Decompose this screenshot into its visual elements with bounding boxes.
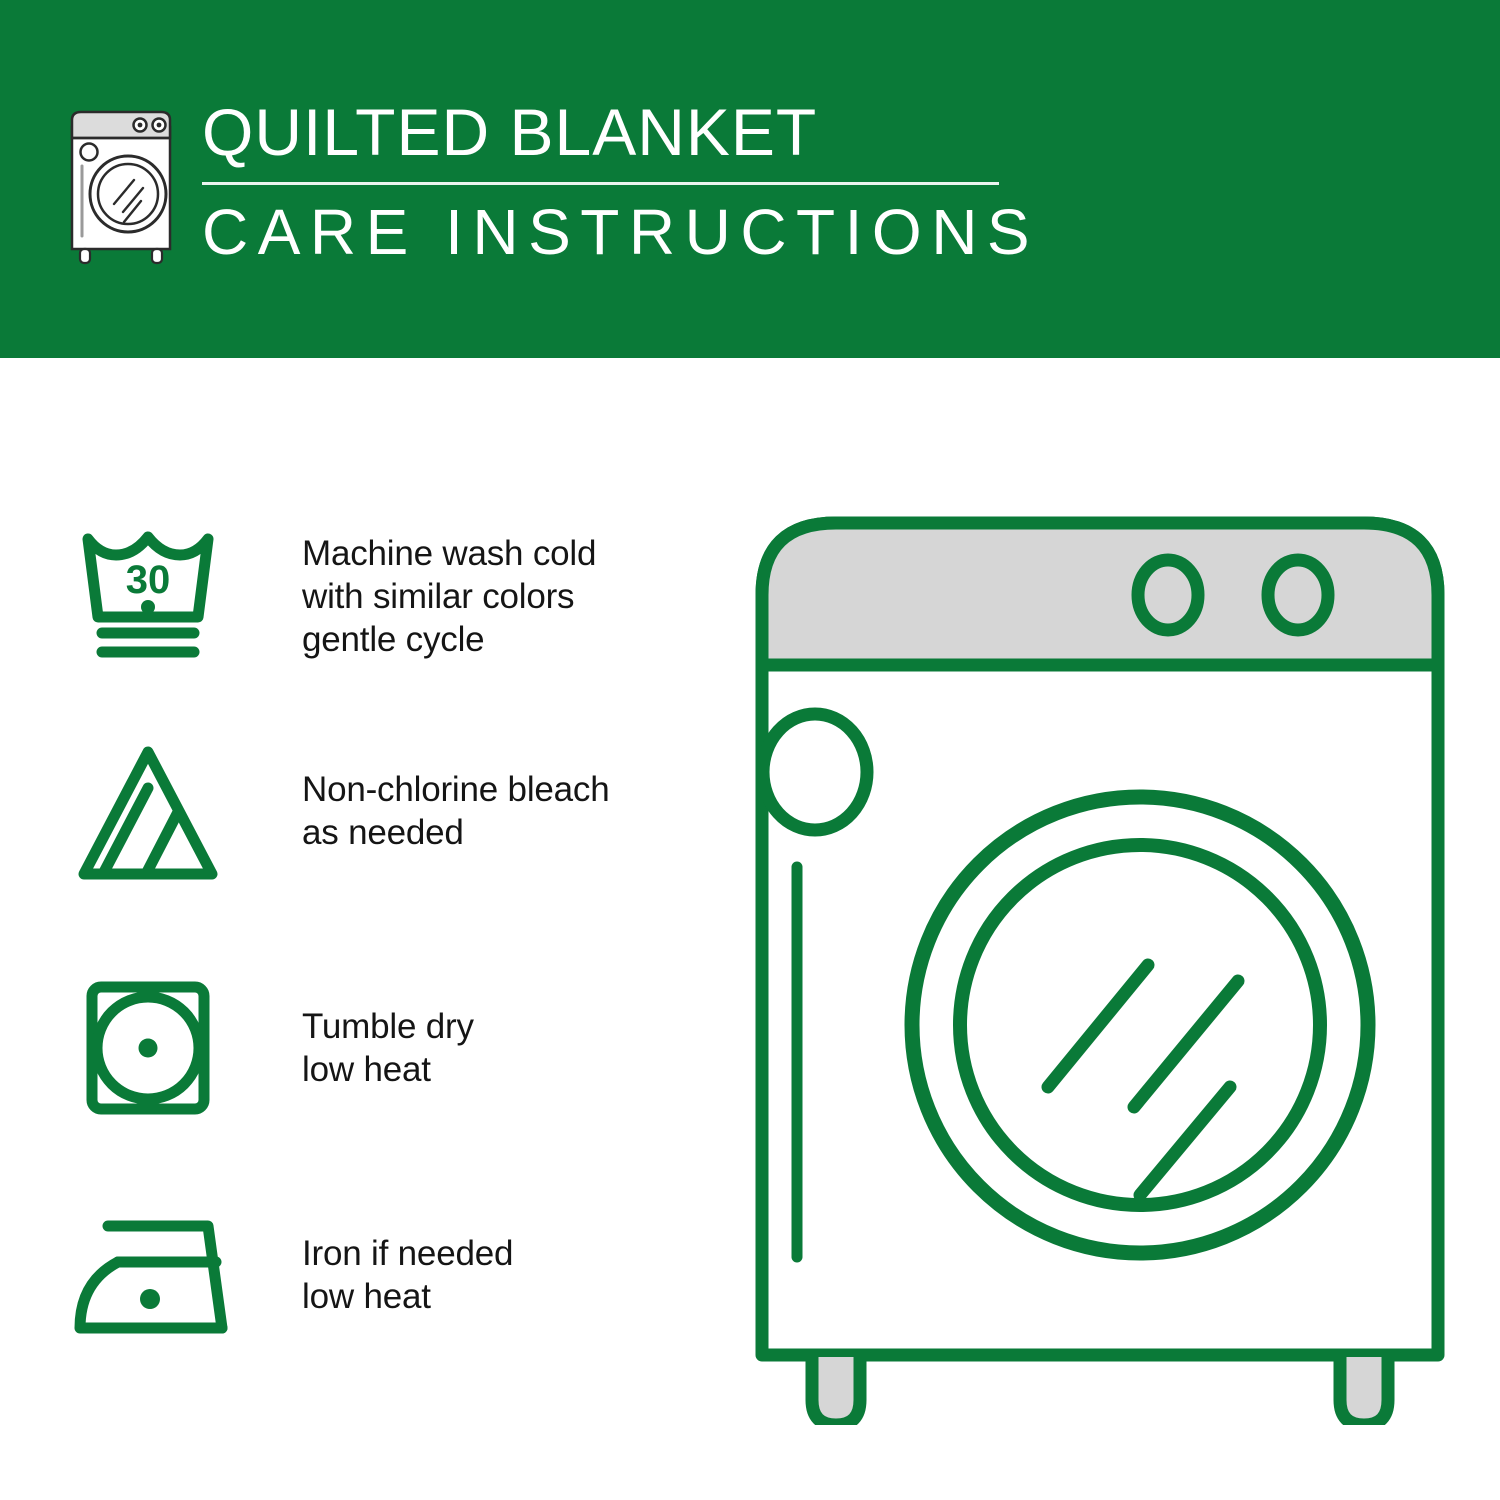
care-instruction-text: Iron if needed low heat: [302, 1232, 513, 1318]
page-subtitle: CARE INSTRUCTIONS: [202, 197, 1002, 267]
care-instruction-row: 30 Machine wash cold with similar colors…: [72, 521, 712, 671]
washing-machine-illustration: [740, 495, 1460, 1425]
page-title: QUILTED BLANKET: [202, 96, 1002, 168]
header-banner: QUILTED BLANKET CARE INSTRUCTIONS: [0, 0, 1500, 358]
title-divider: [202, 182, 999, 185]
title-block: QUILTED BLANKET CARE INSTRUCTIONS: [202, 96, 1002, 267]
care-instruction-list: 30 Machine wash cold with similar colors…: [0, 358, 720, 1500]
care-instruction-row: Iron if needed low heat: [72, 1200, 712, 1350]
non-chlorine-bleach-triangle-icon: [72, 736, 244, 886]
care-instruction-text: Tumble dry low heat: [302, 1005, 474, 1091]
tumble-dry-low-heat-icon: [72, 973, 244, 1123]
care-instruction-row: Tumble dry low heat: [72, 973, 712, 1123]
care-instruction-text: Machine wash cold with similar colors ge…: [302, 532, 596, 661]
wash-temperature-label: 30: [126, 558, 171, 602]
care-instruction-text: Non-chlorine bleach as needed: [302, 768, 610, 854]
wash-tub-30-gentle-icon: 30: [72, 521, 244, 671]
washing-machine-icon: [62, 100, 180, 268]
iron-low-heat-icon: [72, 1200, 244, 1350]
header-content: QUILTED BLANKET CARE INSTRUCTIONS: [62, 96, 1002, 268]
care-instruction-row: Non-chlorine bleach as needed: [72, 736, 712, 886]
